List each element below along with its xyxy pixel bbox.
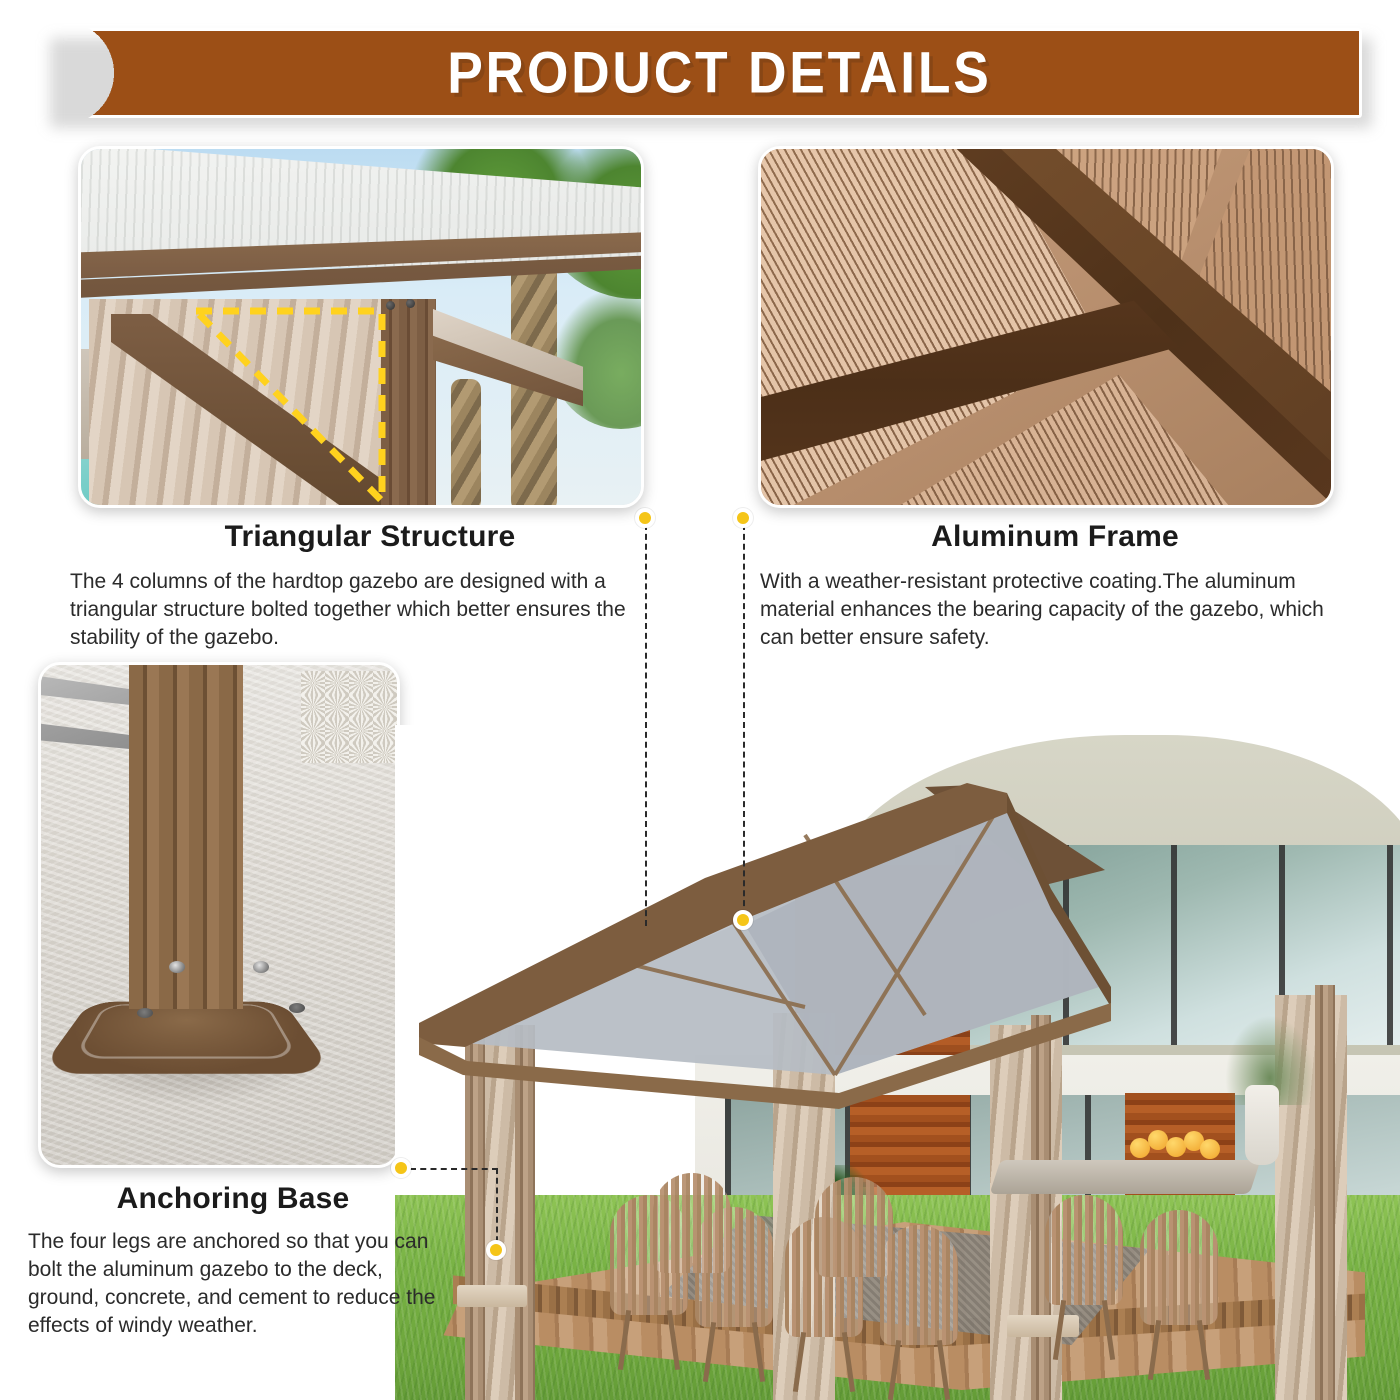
anchor-bolt-hole: [137, 1008, 153, 1018]
callout-line-anchoring-horizontal: [410, 1168, 498, 1170]
aluminum-frame-text: Aluminum Frame With a weather-resistant …: [760, 520, 1350, 652]
callout-dot-anchoring-bottom: [486, 1240, 506, 1260]
curtain-tieback: [457, 1285, 527, 1307]
banner-ribbon: PRODUCT DETAILS: [40, 28, 1362, 118]
anchoring-base-photo: [38, 662, 400, 1168]
callout-line-triangular: [645, 524, 647, 926]
aluminum-frame-photo: [758, 146, 1334, 508]
triangle-highlight-overlay: [194, 309, 384, 504]
hero-gazebo-photo: [395, 725, 1400, 1400]
callout-dot-aluminum-top: [733, 508, 753, 528]
dining-chair: [653, 1173, 731, 1273]
patterned-side-table: [301, 671, 400, 763]
page-title: PRODUCT DETAILS: [96, 40, 1307, 107]
section-title: Aluminum Frame: [760, 520, 1350, 554]
anchor-screw: [253, 961, 269, 973]
callout-dot-triangular-top: [635, 508, 655, 528]
anchor-base-plate-inner-ring: [72, 1004, 299, 1058]
section-body: The 4 columns of the hardtop gazebo are …: [70, 568, 670, 652]
dining-chair: [815, 1177, 893, 1277]
section-title: Triangular Structure: [70, 520, 670, 554]
palm-trunk: [451, 379, 481, 508]
chair-legs: [1142, 1320, 1216, 1380]
callout-dot-aluminum-bottom: [733, 910, 753, 930]
callout-line-aluminum: [743, 524, 745, 916]
chair-legs: [787, 1332, 861, 1392]
gazebo-post: [129, 662, 243, 1009]
table-vase: [1245, 1085, 1279, 1165]
chair-legs: [1047, 1300, 1121, 1360]
product-details-infographic: PRODUCT DETAILS: [0, 0, 1400, 1400]
gazebo-post: [381, 299, 436, 508]
anchoring-base-text: Anchoring Base The four legs are anchore…: [28, 1182, 438, 1341]
section-body: The four legs are anchored so that you c…: [28, 1228, 438, 1341]
gazebo-column: [1315, 985, 1335, 1400]
anchor-screw: [169, 961, 185, 973]
triangular-structure-photo: [78, 146, 644, 508]
gazebo-hardtop-roof: [405, 775, 1305, 1095]
section-title: Anchoring Base: [28, 1182, 438, 1216]
section-body: With a weather-resistant protective coat…: [760, 568, 1350, 652]
header-banner: PRODUCT DETAILS: [40, 28, 1362, 118]
dining-chair: [1045, 1195, 1123, 1305]
hero-rounded-mask: [395, 725, 1400, 1400]
anchor-bolt-hole: [289, 1003, 305, 1013]
callout-dot-anchoring-left: [391, 1158, 411, 1178]
bolt-head: [386, 301, 395, 310]
chair-legs: [612, 1310, 686, 1370]
fruit-bowl: [1130, 1130, 1220, 1162]
dining-table: [989, 1160, 1260, 1194]
bolt-head: [406, 299, 415, 308]
chair-legs: [882, 1340, 956, 1400]
chair-legs: [697, 1322, 771, 1382]
dining-chair: [1140, 1210, 1218, 1325]
triangular-structure-text: Triangular Structure The 4 columns of th…: [70, 520, 670, 652]
